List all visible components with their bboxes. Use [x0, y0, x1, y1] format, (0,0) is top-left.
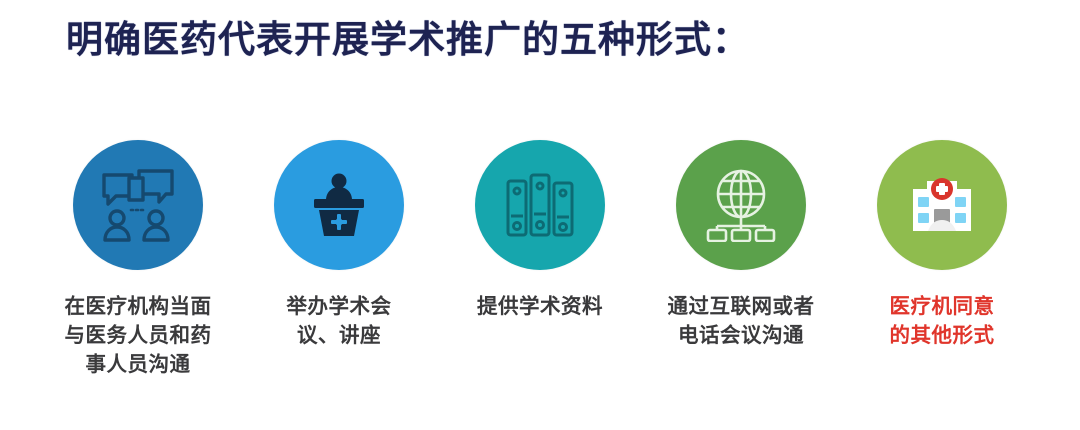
form-item-4-caption: 通过互联网或者 电话会议沟通	[668, 292, 815, 350]
icon-circle-5[interactable]	[877, 140, 1007, 270]
podium-speaker-icon	[308, 172, 370, 238]
icon-circle-4[interactable]	[676, 140, 806, 270]
binders-documents-icon	[504, 169, 576, 241]
globe-network-icon	[702, 168, 780, 242]
page-title: 明确医药代表开展学术推广的五种形式：	[66, 14, 750, 66]
speech-bubbles-people-icon	[99, 168, 177, 242]
form-item-5-caption: 医疗机同意 的其他形式	[890, 292, 995, 350]
infographic-slide: 明确医药代表开展学术推广的五种形式：	[0, 0, 1080, 430]
form-item-1-caption: 在医疗机构当面 与医务人员和药 事人员沟通	[65, 292, 212, 379]
form-item-2[interactable]: 举办学术会 议、讲座	[241, 140, 437, 350]
form-items-row: 在医疗机构当面 与医务人员和药 事人员沟通	[0, 140, 1080, 420]
icon-circle-1[interactable]	[73, 140, 203, 270]
form-item-3-caption: 提供学术资料	[477, 292, 603, 321]
icon-circle-2[interactable]	[274, 140, 404, 270]
form-item-2-caption: 举办学术会 议、讲座	[287, 292, 392, 350]
hospital-building-icon	[909, 175, 975, 235]
form-item-5[interactable]: 医疗机同意 的其他形式	[844, 140, 1040, 350]
form-item-1[interactable]: 在医疗机构当面 与医务人员和药 事人员沟通	[40, 140, 236, 379]
icon-circle-3[interactable]	[475, 140, 605, 270]
form-item-3[interactable]: 提供学术资料	[442, 140, 638, 321]
form-item-4[interactable]: 通过互联网或者 电话会议沟通	[643, 140, 839, 350]
